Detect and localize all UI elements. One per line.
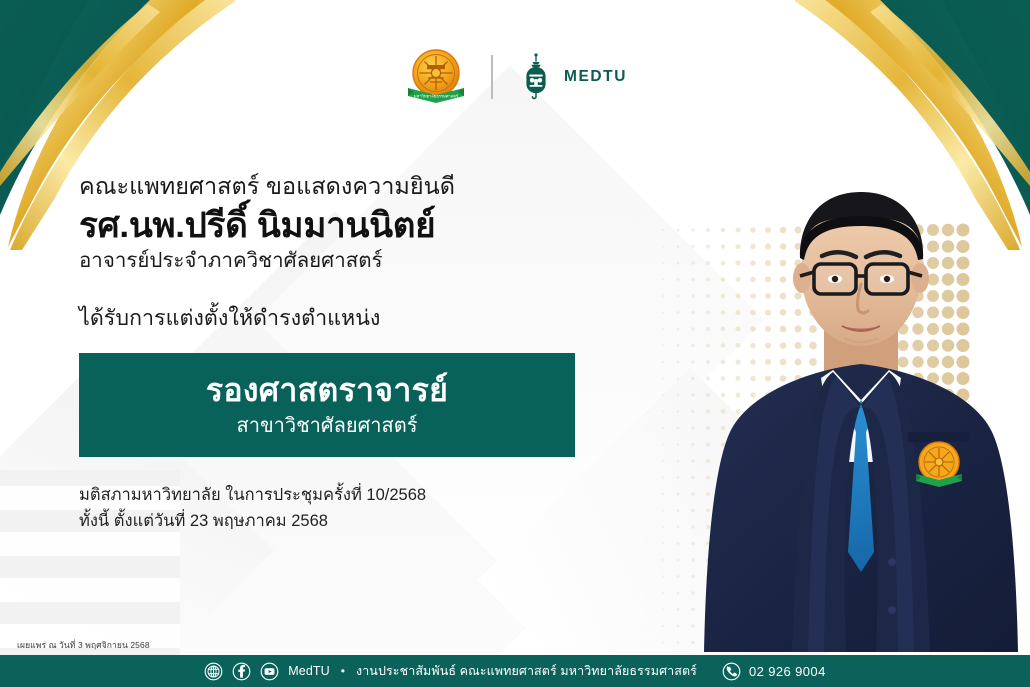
- medtu-label: MEDTU: [564, 68, 627, 86]
- globe-icon[interactable]: [204, 662, 223, 681]
- portrait-zone: [630, 72, 1030, 652]
- congratulation-poster: มหาวิทยาลัยธรรมศาสตร์: [0, 0, 1030, 687]
- facebook-icon[interactable]: [232, 662, 251, 681]
- medtu-mark-icon: [519, 52, 553, 102]
- portrait-photo: [696, 132, 1026, 652]
- person-name: รศ.นพ.ปรีดิ์ นิมมานนิตย์: [79, 205, 599, 246]
- resolution-block: มติสภามหาวิทยาลัย ในการประชุมครั้งที่ 10…: [79, 482, 599, 534]
- resolution-line-2: ทั้งนี้ ตั้งแต่วันที่ 23 พฤษภาคม 2568: [79, 508, 599, 534]
- footer-bar: MedTU • งานประชาสัมพันธ์ คณะแพทยศาสตร์ ม…: [0, 655, 1030, 687]
- published-note: เผยแพร่ ณ วันที่ 3 พฤศจิกายน 2568: [17, 638, 150, 652]
- footer-phone-number[interactable]: 02 926 9004: [749, 664, 826, 679]
- footer-separator: •: [341, 664, 345, 678]
- main-content: คณะแพทยศาสตร์ ขอแสดงความยินดี รศ.นพ.ปรีด…: [79, 172, 599, 534]
- footer-phone-group[interactable]: 02 926 9004: [722, 662, 826, 681]
- congratulation-line: คณะแพทยศาสตร์ ขอแสดงความยินดี: [79, 172, 599, 201]
- resolution-line-1: มติสภามหาวิทยาลัย ในการประชุมครั้งที่ 10…: [79, 482, 599, 508]
- position-title-sub: สาขาวิชาศัลยศาสตร์: [237, 414, 418, 438]
- position-title-box: รองศาสตราจารย์ สาขาวิชาศัลยศาสตร์: [79, 353, 575, 457]
- position-title-main: รองศาสตราจารย์: [206, 372, 448, 409]
- youtube-icon[interactable]: [260, 662, 279, 681]
- thammasat-university-seal-icon: มหาวิทยาลัยธรรมศาสตร์: [403, 46, 469, 108]
- medtu-logo: MEDTU: [519, 52, 627, 102]
- logo-divider: [491, 55, 493, 99]
- seal-ribbon-text: มหาวิทยาลัยธรรมศาสตร์: [414, 94, 459, 99]
- phone-icon: [722, 662, 741, 681]
- person-role: อาจารย์ประจำภาควิชาศัลยศาสตร์: [79, 248, 599, 275]
- footer-handle[interactable]: MedTU: [288, 664, 329, 678]
- appointed-line: ได้รับการแต่งตั้งให้ดำรงตำแหน่ง: [79, 301, 599, 335]
- footer-organization: งานประชาสัมพันธ์ คณะแพทยศาสตร์ มหาวิทยาล…: [356, 661, 697, 681]
